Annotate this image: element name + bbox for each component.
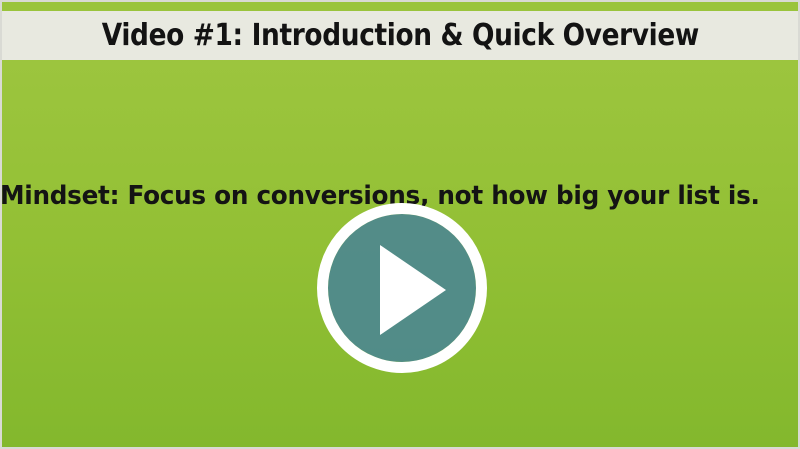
header-top-stripe [2, 2, 798, 11]
video-slide-canvas: Mindset: Focus on conversions, not how b… [2, 60, 798, 447]
play-button[interactable] [317, 203, 487, 373]
video-player[interactable]: Video #1: Introduction & Quick Overview … [0, 0, 800, 449]
video-header-bar: Video #1: Introduction & Quick Overview [2, 11, 798, 60]
play-button-ring [317, 203, 487, 373]
video-title: Video #1: Introduction & Quick Overview [101, 21, 698, 51]
